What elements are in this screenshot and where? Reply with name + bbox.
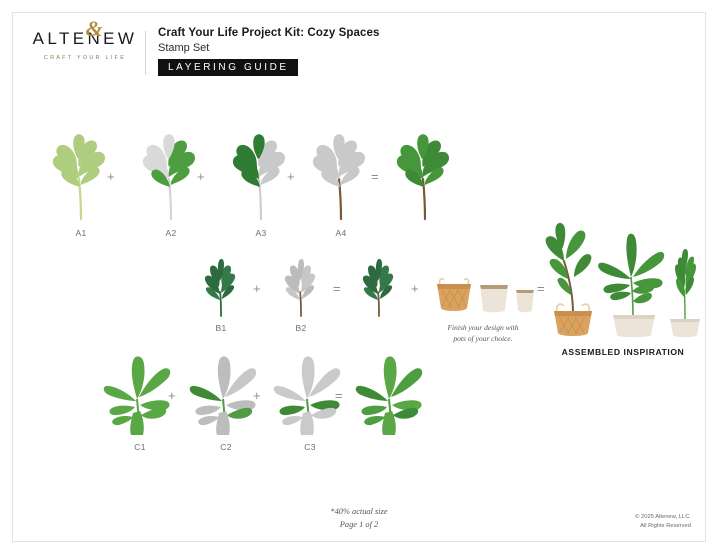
page-subtitle: Stamp Set <box>158 42 379 54</box>
step-a1: A1 <box>41 131 121 238</box>
a4-artwork <box>301 131 381 223</box>
step-b2: B2 <box>271 256 331 333</box>
rubber-plant-in-pot-icon <box>670 249 700 337</box>
page-header: ALTENEW & CRAFT YOUR LIFE Craft Your Lif… <box>13 13 705 91</box>
step-a4: A4 <box>301 131 381 238</box>
logo-wordmark: ALTENEW & <box>33 29 138 49</box>
step-a3: A3 <box>221 131 301 238</box>
short-cream-pot-icon <box>516 290 534 312</box>
rubber-plant-icon <box>191 256 251 318</box>
label-b1: B1 <box>191 323 251 333</box>
operator-plus-c2: + <box>253 388 261 403</box>
pots-icon <box>428 268 538 316</box>
scale-note: *40% actual size <box>13 505 705 518</box>
operator-equals-c: = <box>335 388 343 403</box>
assembled-inspiration-label: ASSEMBLED INSPIRATION <box>533 347 713 357</box>
pots-group: Finish your design with pots of your cho… <box>428 268 538 343</box>
a-result-artwork <box>385 131 465 223</box>
layering-guide-badge: LAYERING GUIDE <box>158 59 298 76</box>
step-b1: B1 <box>191 256 251 333</box>
pots-note: Finish your design with pots of your cho… <box>431 323 535 345</box>
operator-plus-b1: + <box>253 281 261 296</box>
c-result-artwork <box>347 351 437 437</box>
logo-tagline: CRAFT YOUR LIFE <box>31 55 139 61</box>
operator-equals-b: = <box>333 281 341 296</box>
result-a <box>385 131 465 223</box>
copyright-line2: All Rights Reserved <box>635 522 691 531</box>
b2-artwork <box>271 256 331 318</box>
label-c1: C1 <box>95 442 185 452</box>
fiddle-plant-icon <box>301 131 381 223</box>
label-b2: B2 <box>271 323 331 333</box>
title-block: Craft Your Life Project Kit: Cozy Spaces… <box>158 27 379 76</box>
label-c3: C3 <box>265 442 355 452</box>
operator-plus-a2: + <box>197 169 205 184</box>
fiddle-plant-icon <box>385 131 465 223</box>
banana-plant-icon <box>347 351 437 437</box>
assembled-plants-icon <box>533 221 713 339</box>
label-a1: A1 <box>41 228 121 238</box>
result-c <box>347 351 437 437</box>
label-a3: A3 <box>221 228 301 238</box>
page-title: Craft Your Life Project Kit: Cozy Spaces <box>158 27 379 39</box>
page-note: Page 1 of 2 <box>13 518 705 531</box>
operator-plus-a1: + <box>107 169 115 184</box>
label-a4: A4 <box>301 228 381 238</box>
fiddle-leaf-fig-in-basket-icon <box>546 223 592 336</box>
operator-equals-a: = <box>371 169 379 184</box>
operator-plus-c1: + <box>168 388 176 403</box>
copyright-line1: © 2025 Altenew, LLC. <box>635 513 691 522</box>
result-b <box>349 256 409 318</box>
footer-copyright: © 2025 Altenew, LLC. All Rights Reserved <box>635 513 691 530</box>
rubber-plant-icon <box>349 256 409 318</box>
logo-ampersand-icon: & <box>86 16 107 42</box>
woven-basket-icon <box>437 279 471 311</box>
guide-page: ALTENEW & CRAFT YOUR LIFE Craft Your Lif… <box>12 12 706 542</box>
label-a2: A2 <box>131 228 211 238</box>
b1-artwork <box>191 256 251 318</box>
b-result-artwork <box>349 256 409 318</box>
operator-plus-a3: + <box>287 169 295 184</box>
pots-note-line2: pots of your choice. <box>431 334 535 345</box>
label-c2: C2 <box>181 442 271 452</box>
operator-plus-pots: + <box>411 281 419 296</box>
rubber-plant-icon <box>271 256 331 318</box>
footer-center: *40% actual size Page 1 of 2 <box>13 505 705 531</box>
step-a2: A2 <box>131 131 211 238</box>
header-divider <box>145 31 146 75</box>
assembled-inspiration: ASSEMBLED INSPIRATION <box>533 221 713 354</box>
altenew-logo: ALTENEW & CRAFT YOUR LIFE <box>31 29 139 61</box>
bird-of-paradise-in-pot-icon <box>598 234 664 338</box>
tall-cream-pot-icon <box>480 285 508 312</box>
pots-note-line1: Finish your design with <box>431 323 535 334</box>
